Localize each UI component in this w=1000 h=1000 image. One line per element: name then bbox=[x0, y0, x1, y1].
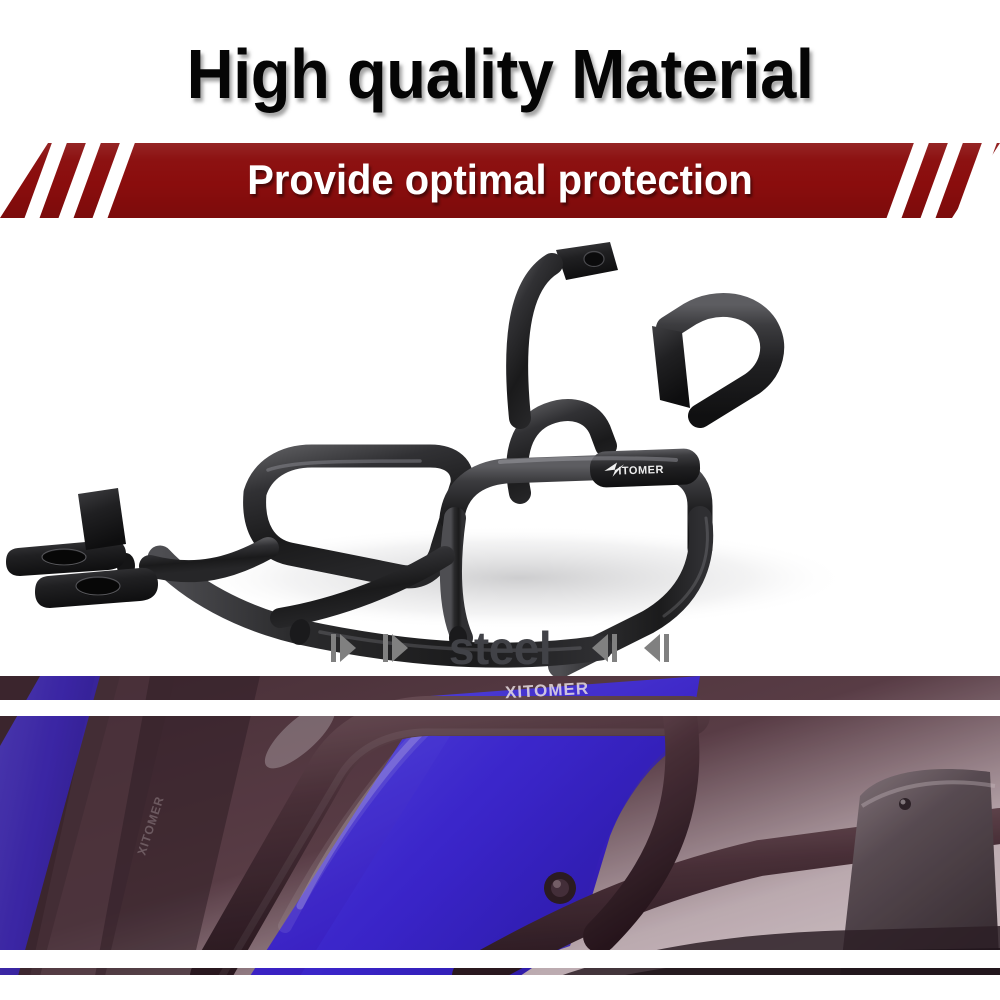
installed-crashbar-closeup: XITOMER bbox=[0, 676, 1000, 976]
photo-divider-band-top bbox=[0, 700, 1000, 716]
crash-bar-gusset-plate bbox=[78, 488, 126, 550]
crash-bar-mount-tab-lower bbox=[35, 568, 158, 608]
installation-photo: XITOMER bbox=[0, 676, 1000, 976]
product-image-stage: ITOMER bbox=[0, 218, 1000, 676]
subheadline-ribbon: Provide optimal protection bbox=[0, 143, 1000, 218]
crash-bar-hook-tab bbox=[652, 326, 690, 408]
play-marker-right-2-icon bbox=[383, 631, 409, 665]
crash-bar-top-bracket-left bbox=[556, 242, 618, 280]
page-title: High quality Material bbox=[187, 35, 814, 109]
product-banner-page: High quality Material Provide optimal pr… bbox=[0, 0, 1000, 1000]
page-bottom-margin bbox=[0, 975, 1000, 1000]
svg-text:ITOMER: ITOMER bbox=[618, 464, 664, 478]
material-caption-row: steel bbox=[0, 612, 1000, 684]
play-marker-left-1-icon bbox=[591, 631, 617, 665]
material-label: steel bbox=[435, 625, 565, 671]
page-subtitle: Provide optimal protection bbox=[25, 143, 975, 218]
headline-section: High quality Material bbox=[0, 0, 1000, 143]
crash-bar-product-image: ITOMER bbox=[0, 218, 1000, 676]
crash-bar-upper-rear-tube bbox=[517, 264, 552, 418]
play-marker-left-2-icon bbox=[643, 631, 669, 665]
play-marker-right-1-icon bbox=[331, 631, 357, 665]
photo-divider-band-bottom bbox=[0, 950, 1000, 968]
